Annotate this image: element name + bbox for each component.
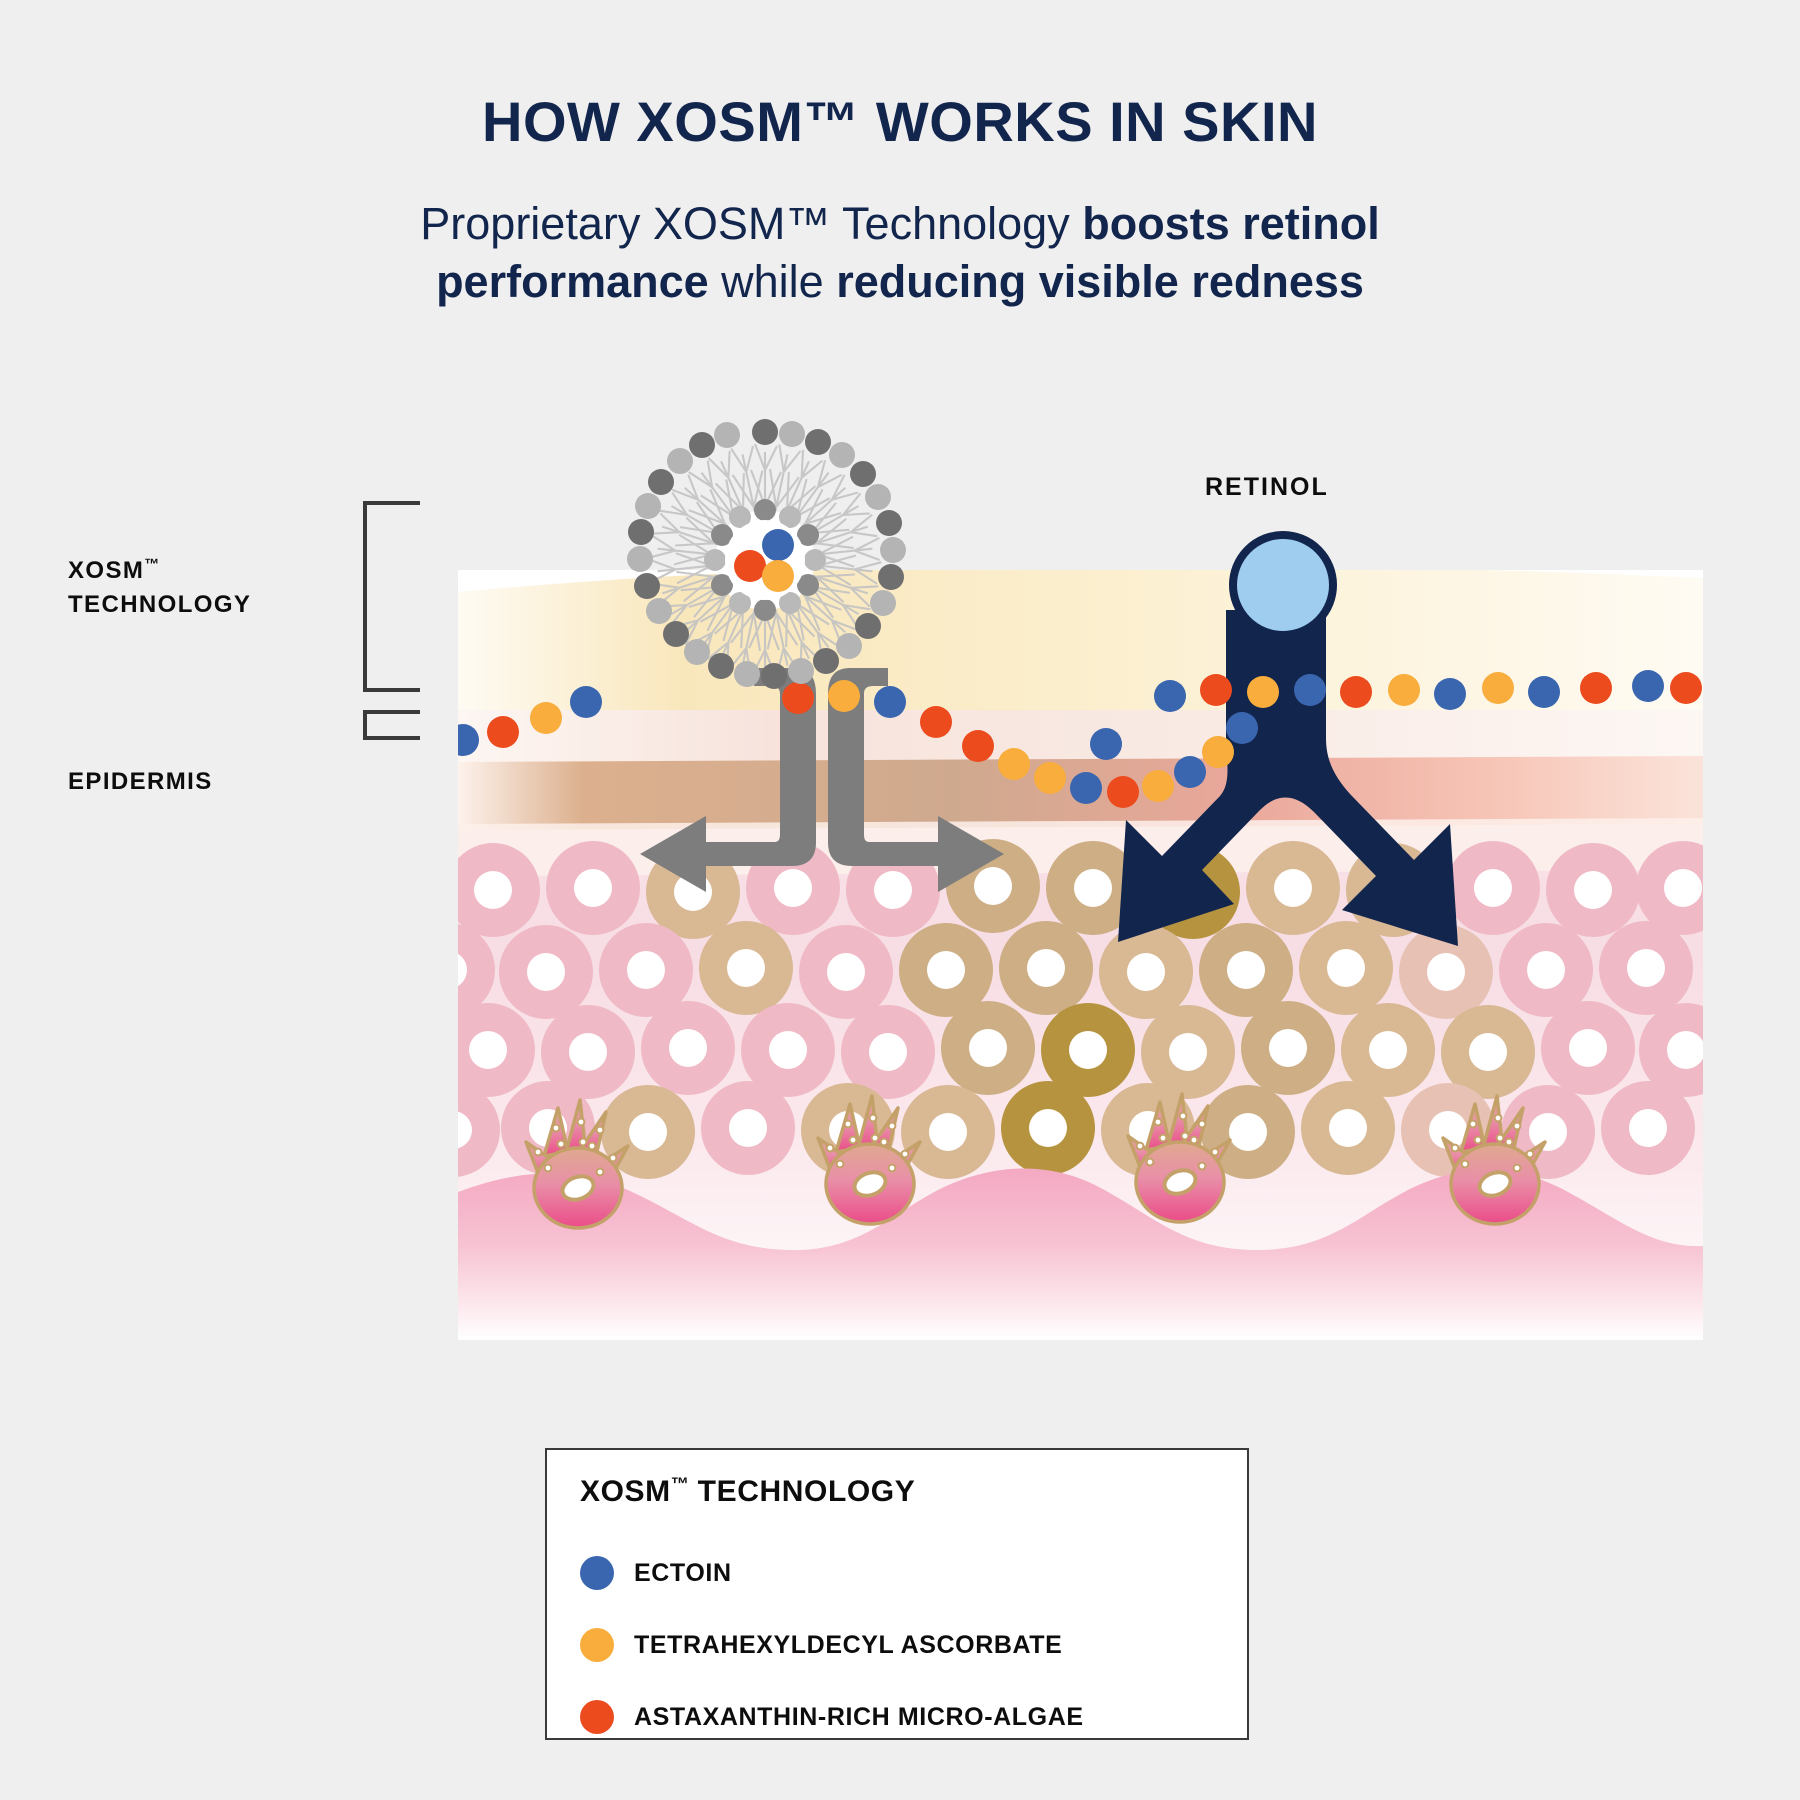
legend-item-astaxanthin: ASTAXANTHIN-RICH MICRO-ALGAE [580,1700,1084,1734]
subtitle-part-1: Proprietary XOSM™ Technology [420,198,1082,249]
retinol-molecule-icon [1223,525,1343,645]
astaxanthin-dot [734,550,766,582]
trademark-icon: ™ [144,556,159,573]
legend-label-astaxanthin: ASTAXANTHIN-RICH MICRO-ALGAE [634,1703,1084,1732]
legend-swatch-ascorbate [580,1628,614,1662]
bracket-epidermis [365,712,420,738]
trademark-icon: ™ [671,1474,689,1494]
bracket-xosm-technology [365,503,420,690]
retinol-label: RETINOL [1205,473,1329,502]
layer-brackets [345,490,465,830]
layer-pale [458,710,1703,762]
label-xosm-technology: XOSM™ TECHNOLOGY [68,554,358,622]
infographic-root: HOW XOSM™ WORKS IN SKIN Proprietary XOSM… [0,0,1800,1800]
page-subtitle: Proprietary XOSM™ Technology boosts reti… [300,195,1500,310]
legend-title: XOSM™ TECHNOLOGY [580,1474,915,1509]
legend-label-ectoin: ECTOIN [634,1559,732,1588]
legend-title-rest: TECHNOLOGY [689,1475,916,1508]
legend-swatch-astaxanthin [580,1700,614,1734]
subtitle-part-2: while [709,256,837,307]
legend-box: XOSM™ TECHNOLOGY ECTOIN TETRAHEXYLDECYL … [545,1448,1249,1740]
label-technology-word: TECHNOLOGY [68,591,251,618]
label-xosm-word: XOSM [68,557,144,584]
ascorbate-dot [762,560,794,592]
label-epidermis: EPIDERMIS [68,765,358,799]
ectoin-dot [762,529,794,561]
legend-item-ectoin: ECTOIN [580,1556,732,1590]
subtitle-bold-2: reducing visible redness [836,256,1364,307]
xosm-liposome-icon [615,410,915,710]
legend-swatch-ectoin [580,1556,614,1590]
legend-label-ascorbate: TETRAHEXYLDECYL ASCORBATE [634,1631,1062,1660]
page-title: HOW XOSM™ WORKS IN SKIN [0,92,1800,151]
legend-item-ascorbate: TETRAHEXYLDECYL ASCORBATE [580,1628,1062,1662]
legend-title-main: XOSM [580,1475,671,1508]
